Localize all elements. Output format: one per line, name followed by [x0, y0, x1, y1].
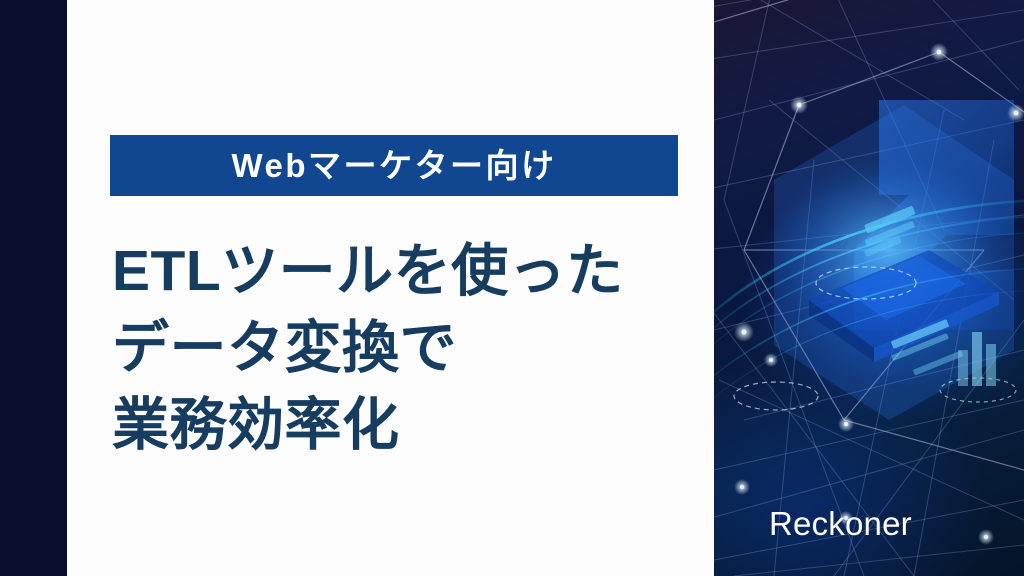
eyebrow-badge-label: Webマーケター向け — [231, 149, 556, 182]
reckoner-logo-mark-icon — [769, 507, 1024, 576]
headline-line-3: 業務効率化 — [112, 387, 712, 464]
hero-image-panel: Reckoner — [714, 0, 1024, 576]
headline-line-1: ETLツールを使った — [112, 233, 712, 310]
headline-line-2: データ変換で — [112, 310, 712, 387]
page-title: ETLツールを使った データ変換で 業務効率化 — [112, 233, 712, 464]
eyebrow-badge: Webマーケター向け — [110, 135, 678, 196]
content-area: Webマーケター向け ETLツールを使った データ変換で 業務効率化 — [67, 0, 714, 576]
left-accent-bar — [0, 0, 67, 576]
slide-canvas: Webマーケター向け ETLツールを使った データ変換で 業務効率化 — [0, 0, 1024, 576]
hero-network-graphic — [714, 0, 1024, 576]
reckoner-logo: Reckoner — [769, 507, 912, 540]
